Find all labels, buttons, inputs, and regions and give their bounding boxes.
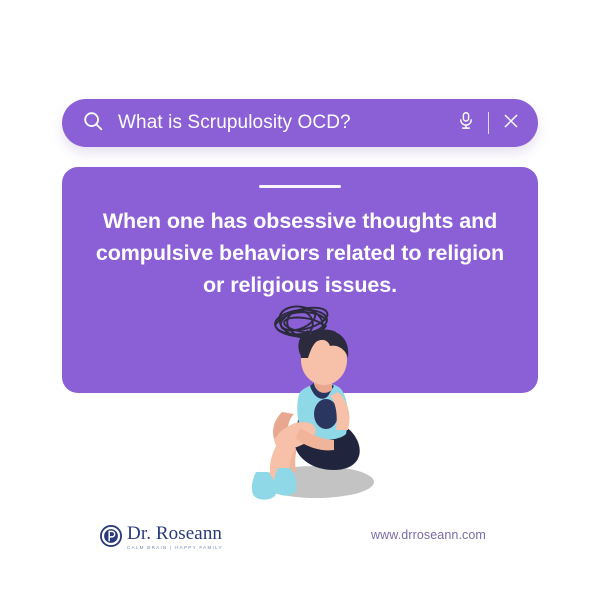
brand-logo[interactable]: Dr. Roseann CALM BRAIN | HAPPY FAMILY bbox=[100, 524, 223, 552]
card-divider bbox=[259, 185, 341, 188]
brand-wordmark: Dr. Roseann bbox=[127, 524, 223, 543]
answer-text: When one has obsessive thoughts and comp… bbox=[90, 205, 510, 301]
search-input[interactable] bbox=[118, 112, 457, 134]
dr-roseann-logo-mark-icon bbox=[100, 525, 122, 552]
seated-person-illustration bbox=[238, 300, 388, 505]
footer: Dr. Roseann CALM BRAIN | HAPPY FAMILY ww… bbox=[0, 524, 600, 560]
brand-tagline: CALM BRAIN | HAPPY FAMILY bbox=[127, 544, 223, 552]
search-bar[interactable] bbox=[62, 99, 538, 147]
website-url[interactable]: www.drroseann.com bbox=[371, 528, 486, 542]
poster-canvas: When one has obsessive thoughts and comp… bbox=[0, 0, 600, 600]
search-divider bbox=[488, 112, 489, 134]
close-icon[interactable] bbox=[502, 110, 520, 137]
microphone-icon[interactable] bbox=[457, 110, 475, 137]
search-icon[interactable] bbox=[82, 110, 118, 137]
